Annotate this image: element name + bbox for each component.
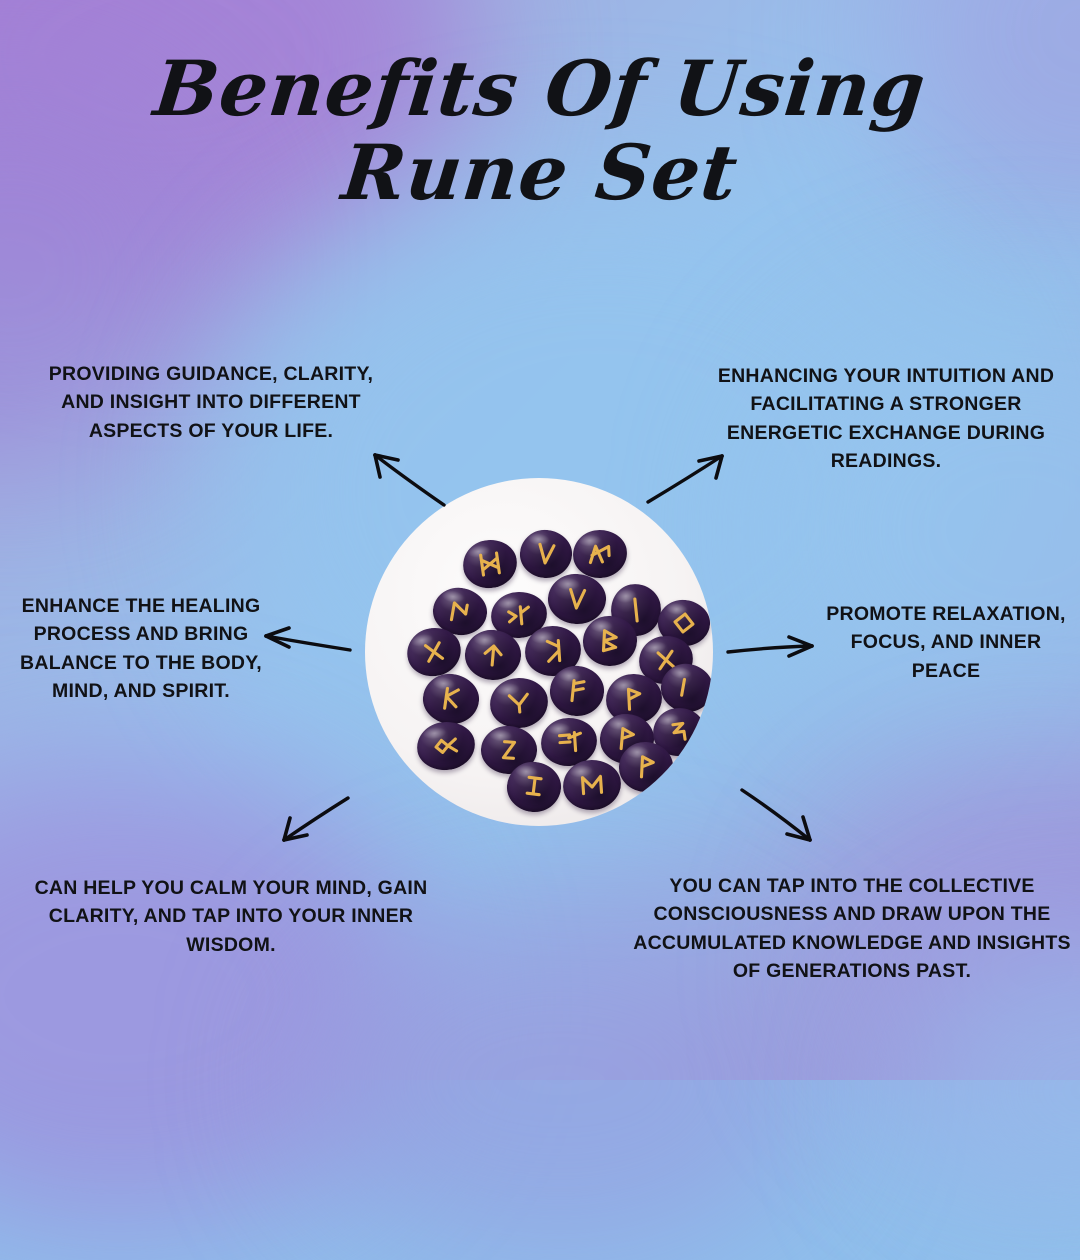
benefit-text-top-left: PROVIDING GUIDANCE, CLARITY, AND INSIGHT… [46, 360, 376, 445]
rune-stone [420, 670, 482, 727]
rune-stone [415, 719, 478, 773]
benefit-text-bottom-right: YOU CAN TAP INTO THE COLLECTIVE CONSCIOU… [622, 872, 1080, 985]
rune-stone [488, 676, 550, 731]
rune-stone [518, 527, 575, 580]
benefit-text-bottom-left: CAN HELP YOU CALM YOUR MIND, GAIN CLARIT… [22, 874, 440, 959]
rune-circle-backdrop [365, 478, 713, 826]
benefit-text-top-right: ENHANCING YOUR INTUITION AND FACILITATIN… [712, 362, 1060, 475]
rune-stone [561, 758, 622, 812]
benefit-text-mid-left: ENHANCE THE HEALING PROCESS AND BRING BA… [6, 592, 276, 705]
benefit-text-mid-right: PROMOTE RELAXATION, FOCUS, AND INNER PEA… [818, 600, 1074, 685]
rune-stone [460, 536, 520, 591]
title-line-1: Benefits Of Using [0, 52, 1080, 126]
rune-set-image [365, 478, 713, 826]
title-line-2: Rune Set [0, 136, 1080, 210]
rune-stone [572, 529, 628, 580]
page-title: Benefits Of Using Rune Set [0, 52, 1080, 211]
